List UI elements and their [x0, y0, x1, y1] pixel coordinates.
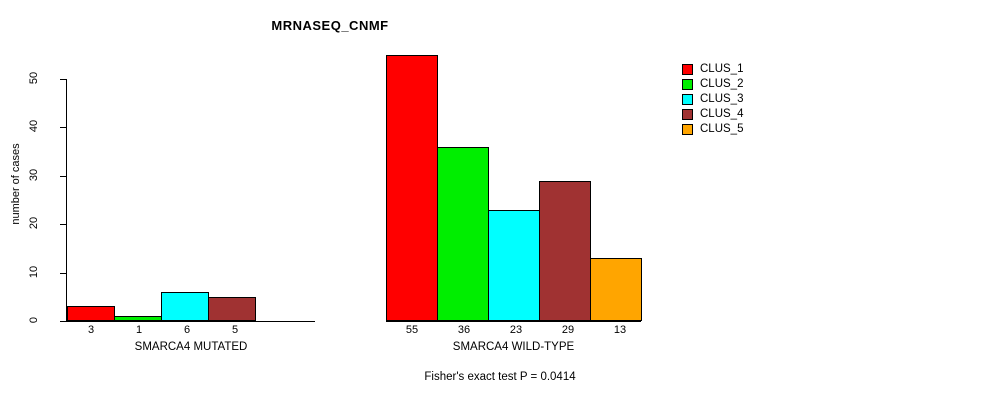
legend-swatch-icon: [682, 64, 693, 75]
bar-clus_3: [488, 210, 540, 321]
y-tick-mark: [60, 273, 66, 274]
y-tick-mark: [60, 321, 66, 322]
legend-label: CLUS_5: [700, 124, 743, 135]
x-axis-line-mutated: [67, 321, 315, 322]
bar-value-label: 23: [490, 323, 542, 337]
bar-value-label: 3: [67, 323, 115, 337]
x-axis-line-wildtype: [386, 321, 641, 322]
bar-value-labels-wildtype: 5536232913: [386, 323, 646, 337]
legend-label: CLUS_3: [700, 94, 743, 105]
legend-swatch-icon: [682, 79, 693, 90]
legend-item-clus_1: CLUS_1: [682, 62, 743, 77]
y-tick-label: 30: [28, 155, 40, 195]
y-axis-label: number of cases: [10, 124, 22, 244]
y-tick-label: 50: [28, 58, 40, 98]
legend-item-clus_3: CLUS_3: [682, 92, 743, 107]
bar-value-label: 55: [386, 323, 438, 337]
bar-group-mutated: [67, 50, 302, 321]
y-tick-mark: [60, 176, 66, 177]
page-title: MRNASEQ_CNMF: [0, 18, 660, 33]
panel-caption-mutated: SMARCA4 MUTATED: [67, 341, 315, 353]
bar-clus_2: [437, 147, 489, 321]
legend-swatch-icon: [682, 109, 693, 120]
bar-clus_3: [161, 292, 209, 321]
bar-value-label: 1: [115, 323, 163, 337]
bar-value-label: 36: [438, 323, 490, 337]
statistical-annotation: Fisher's exact test P = 0.0414: [0, 371, 990, 383]
bar-clus_4: [539, 181, 591, 321]
bar-value-label: 5: [211, 323, 259, 337]
legend-label: CLUS_2: [700, 79, 743, 90]
bar-value-labels-mutated: 3165: [67, 323, 307, 337]
panel-caption-wildtype: SMARCA4 WILD-TYPE: [386, 341, 641, 353]
legend-swatch-icon: [682, 94, 693, 105]
panel-smarca4-mutated: 3165 SMARCA4 MUTATED: [67, 50, 315, 322]
legend-item-clus_2: CLUS_2: [682, 77, 743, 92]
bar-clus_1: [386, 55, 438, 321]
panel-smarca4-wildtype: 5536232913 SMARCA4 WILD-TYPE: [386, 50, 641, 322]
legend-item-clus_4: CLUS_4: [682, 107, 743, 122]
legend-label: CLUS_4: [700, 109, 743, 120]
bar-value-label: [259, 323, 307, 337]
y-tick-label: 20: [28, 203, 40, 243]
bar-value-label: 13: [594, 323, 646, 337]
y-tick-mark: [60, 127, 66, 128]
bar-clus_1: [67, 306, 115, 321]
bar-group-wildtype: [386, 50, 641, 321]
y-tick-mark: [60, 79, 66, 80]
bar-clus_4: [208, 297, 256, 321]
bar-value-label: 6: [163, 323, 211, 337]
legend: CLUS_1CLUS_2CLUS_3CLUS_4CLUS_5: [682, 62, 743, 137]
y-tick-label: 40: [28, 106, 40, 146]
chart-canvas: MRNASEQ_CNMF 01020304050 number of cases…: [0, 0, 990, 400]
bar-value-label: 29: [542, 323, 594, 337]
bar-clus_5: [590, 258, 642, 321]
y-tick-label: 10: [28, 252, 40, 292]
y-tick-label: 0: [28, 300, 40, 340]
legend-swatch-icon: [682, 124, 693, 135]
legend-item-clus_5: CLUS_5: [682, 122, 743, 137]
y-tick-mark: [60, 224, 66, 225]
legend-label: CLUS_1: [700, 64, 743, 75]
